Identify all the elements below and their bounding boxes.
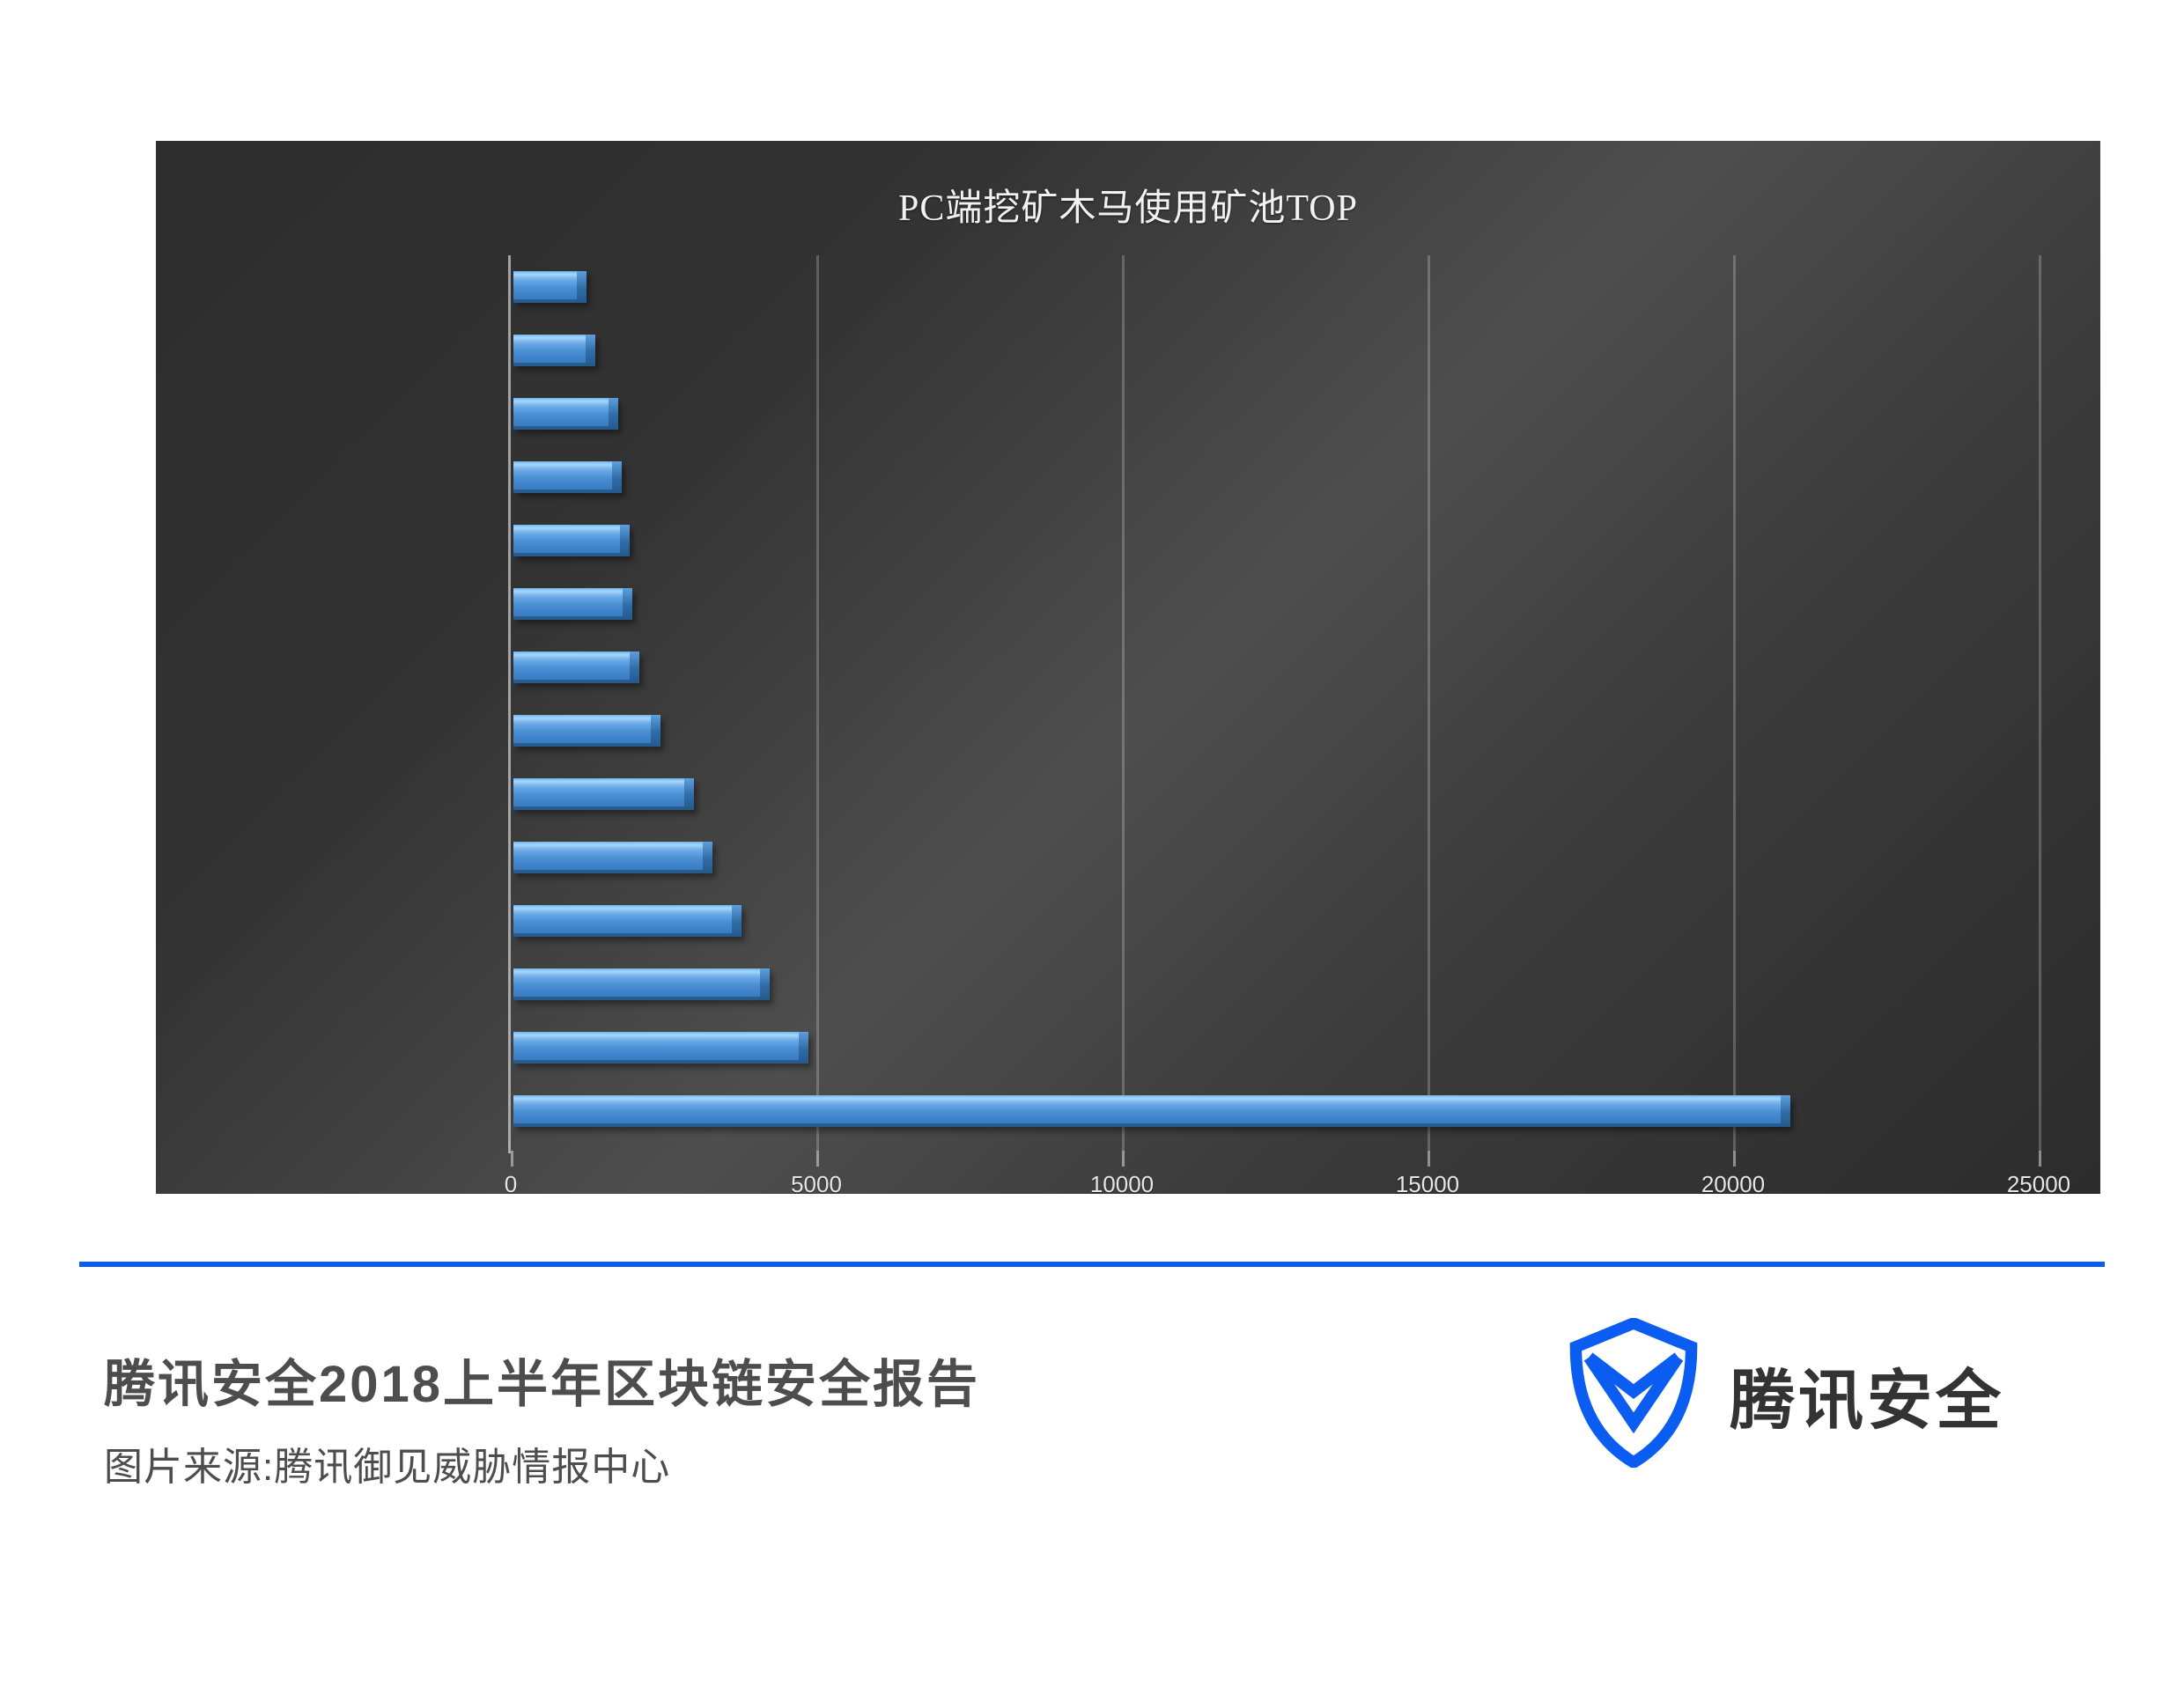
bar-fill: [513, 398, 618, 430]
bar: [513, 842, 712, 873]
footer: 腾讯安全2018上半年区块链安全报告 图片来源:腾讯御见威胁情报中心 腾讯安全: [0, 1281, 2184, 1545]
x-tick-mark: [1733, 1151, 1736, 1167]
gridline: [816, 255, 819, 1151]
bar-fill: [513, 525, 630, 556]
bar-fill: [513, 968, 770, 1000]
bar: [513, 525, 630, 556]
x-tick-label: 5000: [791, 1171, 842, 1194]
gridline: [2039, 255, 2041, 1151]
x-tick-label: 25000: [2007, 1171, 2070, 1194]
bar: [513, 461, 622, 493]
bar-fill: [513, 778, 694, 810]
bar: [513, 715, 660, 747]
x-tick-mark: [1122, 1151, 1125, 1167]
x-tick-mark: [816, 1151, 819, 1167]
shield-chevron-icon: [1568, 1318, 1700, 1472]
gridline: [1428, 255, 1430, 1151]
gridline: [1122, 255, 1125, 1151]
bar-fill: [513, 461, 622, 493]
bar-fill: [513, 588, 632, 620]
x-tick-label: 20000: [1701, 1171, 1765, 1194]
bar-fill: [513, 842, 712, 873]
x-tick-mark: [1428, 1151, 1430, 1167]
x-tick-label: 0: [505, 1171, 517, 1194]
image-source-label: 图片来源:腾讯御见威胁情报中心: [104, 1435, 670, 1491]
y-axis-line: [508, 255, 511, 1153]
bar-fill: [513, 1032, 808, 1064]
x-tick-label: 15000: [1396, 1171, 1459, 1194]
bar-fill: [513, 905, 742, 937]
brand-lockup: 腾讯安全: [1568, 1318, 2004, 1472]
bar: [513, 905, 742, 937]
bar: [513, 1095, 1790, 1127]
divider-rule: [79, 1262, 2105, 1267]
bar: [513, 968, 770, 1000]
brand-name: 腾讯安全: [1730, 1348, 2004, 1442]
bar-fill: [513, 335, 595, 366]
report-title: 腾讯安全2018上半年区块链安全报告: [104, 1343, 980, 1417]
bar: [513, 588, 632, 620]
x-tick-label: 10000: [1090, 1171, 1154, 1194]
bar: [513, 335, 595, 366]
bar-fill: [513, 652, 639, 683]
chart-title: PC端挖矿木马使用矿池TOP: [156, 178, 2100, 232]
chart-panel: PC端挖矿木马使用矿池TOP 0500010000150002000025000…: [156, 141, 2100, 1194]
bar-fill: [513, 715, 660, 747]
gridline: [1733, 255, 1736, 1151]
bar: [513, 652, 639, 683]
bar: [513, 778, 694, 810]
x-tick-mark: [2039, 1151, 2041, 1167]
bar: [513, 271, 587, 303]
bar: [513, 1032, 808, 1064]
bar-fill: [513, 271, 587, 303]
bar-fill: [513, 1095, 1790, 1127]
x-tick-mark: [511, 1151, 513, 1167]
bar: [513, 398, 618, 430]
